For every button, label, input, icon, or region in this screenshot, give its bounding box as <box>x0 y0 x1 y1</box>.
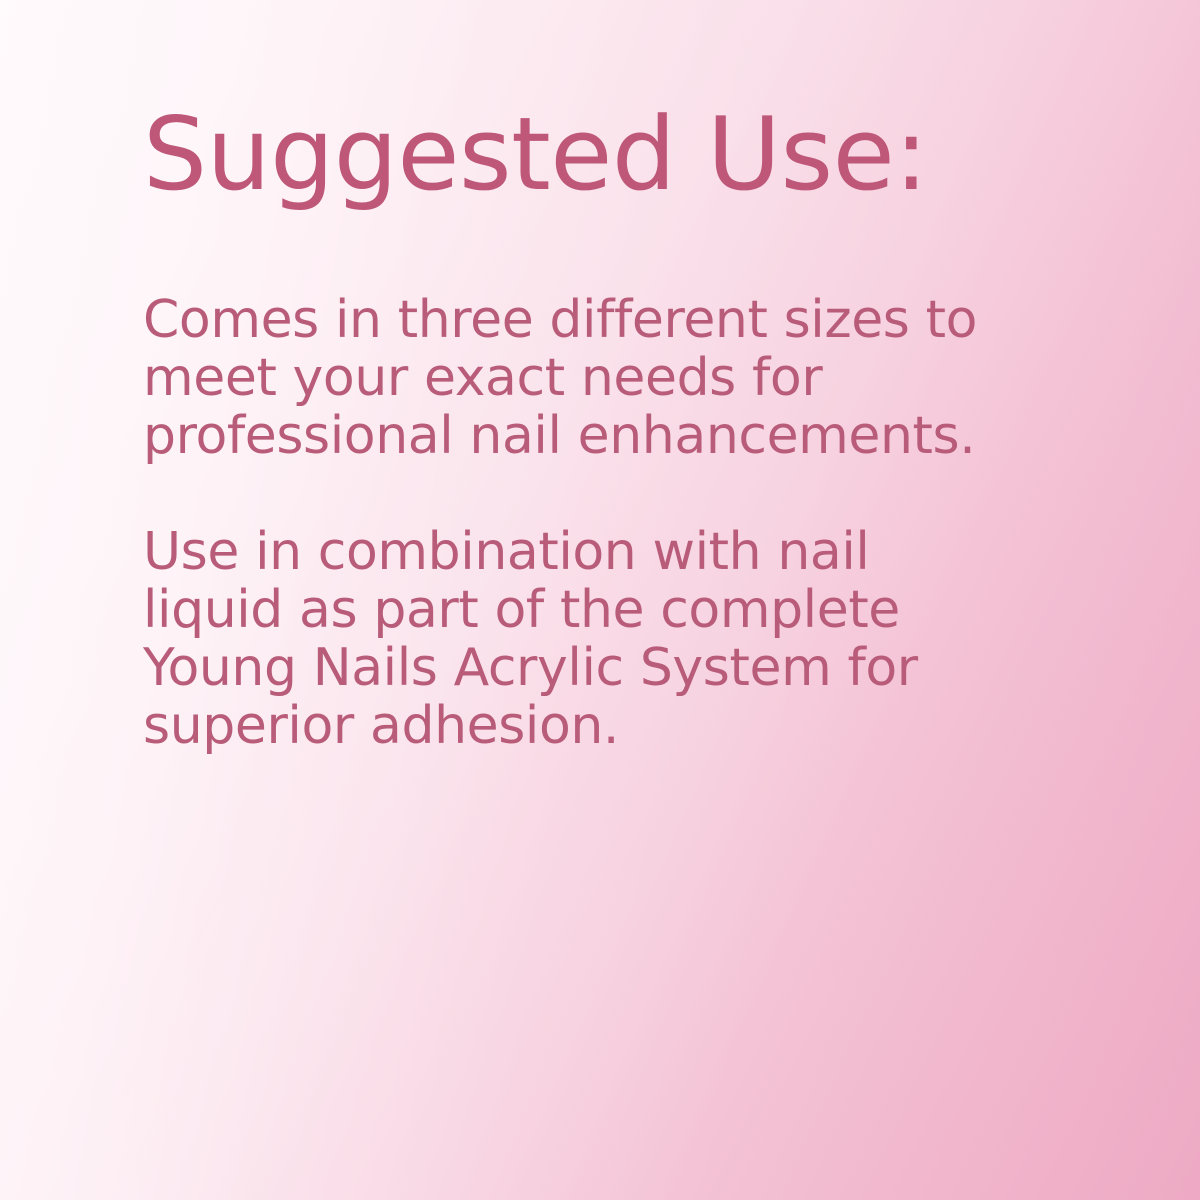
page-title: Suggested Use: <box>143 104 1023 205</box>
paragraph-sizes: Comes in three different sizes to meet y… <box>143 291 1011 465</box>
suggested-use-panel: Suggested Use: Comes in three different … <box>0 0 1200 1200</box>
body-text-block: Comes in three different sizes to meet y… <box>143 291 1023 755</box>
content-column: Suggested Use: Comes in three different … <box>143 104 1023 755</box>
paragraph-usage: Use in combination with nail liquid as p… <box>143 523 1011 755</box>
